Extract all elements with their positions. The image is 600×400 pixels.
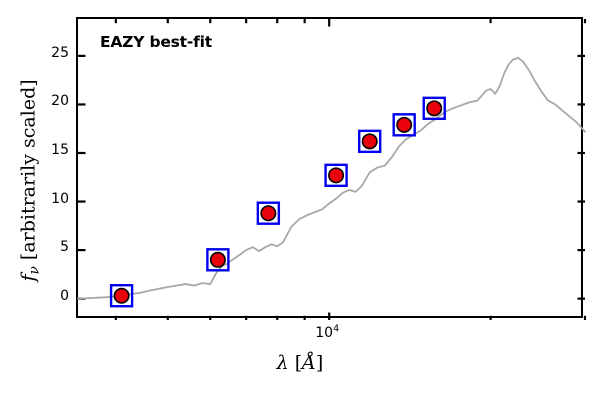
photometry-circle-marker xyxy=(211,253,225,267)
plot-axes: EAZY best-fit xyxy=(76,17,583,318)
plot-drawing-area xyxy=(78,19,585,320)
photometry-circle-marker xyxy=(397,118,411,132)
photometry-circle-marker xyxy=(114,289,128,303)
y-axis-label: fν [arbitrarily scaled] xyxy=(18,79,40,281)
x-tick-label: 104 xyxy=(315,326,339,340)
photometry-circle-marker xyxy=(362,134,376,148)
photometry-circle-marker xyxy=(261,206,275,220)
x-axis-label: λ [Å] xyxy=(0,352,600,374)
photometry-circle-marker xyxy=(427,101,441,115)
photometry-circle-marker xyxy=(329,168,343,182)
eazy-best-fit-annotation: EAZY best-fit xyxy=(100,33,212,51)
y-axis-label-wrapper: fν [arbitrarily scaled] xyxy=(18,20,43,340)
figure-canvas: 0510152025 104 EAZY best-fit λ [Å] fν [a… xyxy=(0,0,600,400)
photometry-points xyxy=(111,98,445,306)
